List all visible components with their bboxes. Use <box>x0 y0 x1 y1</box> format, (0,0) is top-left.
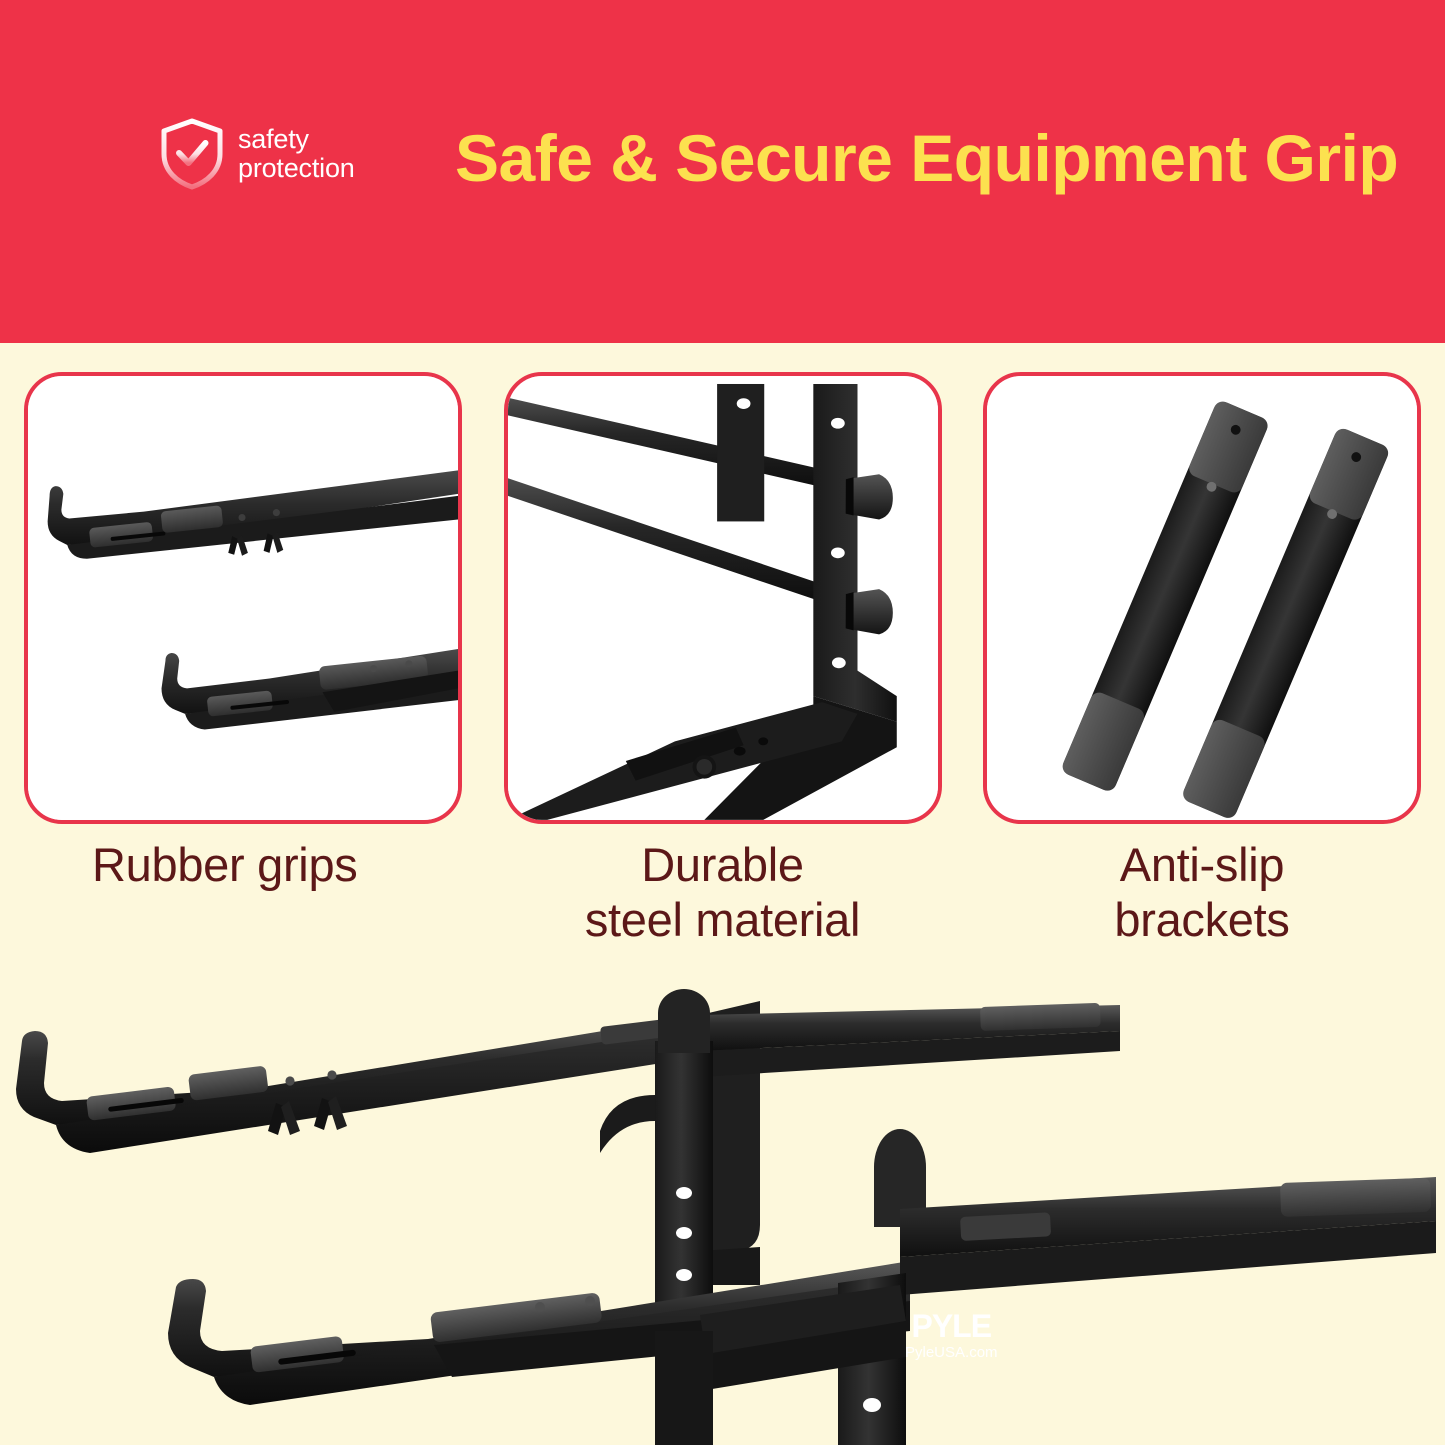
feature-card-durable-steel-material <box>504 372 942 824</box>
feature-caption-rubber-grips: Rubber grips <box>24 838 462 968</box>
safety-protection-label: safety protection <box>238 125 355 182</box>
feature-caption-row: Rubber grips Durable steel material Anti… <box>0 838 1445 968</box>
hero-product-image: PYLE PyleUSA.com <box>0 985 1445 1445</box>
header-banner: safety protection Safe & Secure Equipmen… <box>0 0 1445 343</box>
safety-protection-badge: safety protection <box>160 118 355 190</box>
feature-card-anti-slip-brackets <box>983 372 1421 824</box>
feature-caption-durable-steel-material: Durable steel material <box>504 838 942 968</box>
rubber-grips-image <box>28 376 458 820</box>
feature-caption-anti-slip-brackets: Anti-slip brackets <box>983 838 1421 968</box>
shield-check-icon <box>160 118 224 190</box>
feature-card-row <box>0 372 1445 824</box>
feature-card-rubber-grips <box>24 372 462 824</box>
anti-slip-brackets-image <box>987 376 1417 820</box>
durable-steel-image <box>508 376 938 820</box>
page-title: Safe & Secure Equipment Grip <box>455 124 1398 193</box>
